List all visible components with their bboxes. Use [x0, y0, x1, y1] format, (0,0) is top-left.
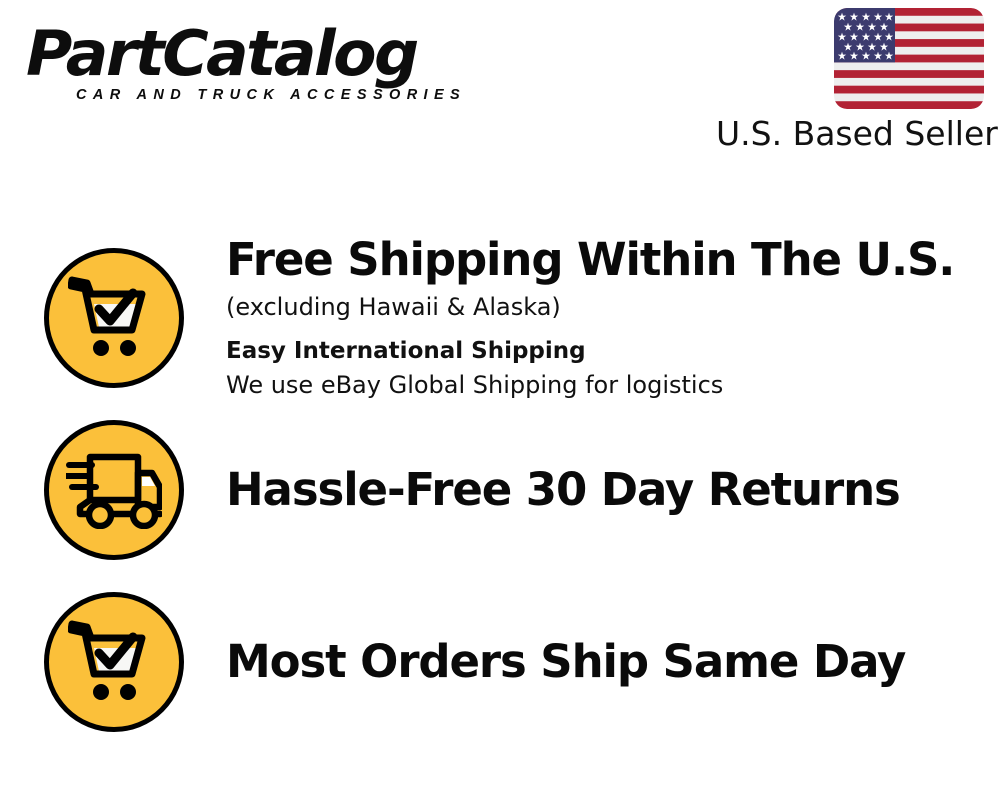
feature-icon-badge	[44, 420, 184, 560]
brand-wordmark: PartCatalog	[26, 22, 505, 86]
feature-row: Free Shipping Within The U.S. (excluding…	[0, 232, 1000, 404]
feature-text-block: Most Orders Ship Same Day	[184, 636, 1000, 688]
us-based-seller-label: U.S. Based Seller	[716, 115, 986, 153]
shopping-cart-check-icon	[68, 618, 160, 706]
feature-icon-badge	[44, 248, 184, 388]
feature-headline: Free Shipping Within The U.S.	[226, 234, 990, 286]
feature-subline-bold: Easy International Shipping	[226, 335, 990, 368]
feature-text-block: Free Shipping Within The U.S. (excluding…	[184, 234, 1000, 402]
feature-subline: We use eBay Global Shipping for logistic…	[226, 369, 990, 402]
feature-headline: Hassle-Free 30 Day Returns	[226, 464, 990, 516]
feature-subline: (excluding Hawaii & Alaska)	[226, 291, 990, 324]
feature-text-block: Hassle-Free 30 Day Returns	[184, 464, 1000, 516]
us-flag-icon	[834, 8, 984, 109]
feature-icon-badge	[44, 592, 184, 732]
feature-list: Free Shipping Within The U.S. (excluding…	[0, 232, 1000, 748]
us-based-seller-badge: U.S. Based Seller	[716, 8, 986, 153]
feature-row: Most Orders Ship Same Day	[0, 576, 1000, 748]
feature-row: Hassle-Free 30 Day Returns	[0, 404, 1000, 576]
shopping-cart-check-icon	[68, 274, 160, 362]
brand-logo[interactable]: PartCatalog CAR AND TRUCK ACCESSORIES	[26, 22, 496, 103]
feature-headline: Most Orders Ship Same Day	[226, 636, 990, 688]
delivery-truck-icon	[66, 451, 162, 529]
